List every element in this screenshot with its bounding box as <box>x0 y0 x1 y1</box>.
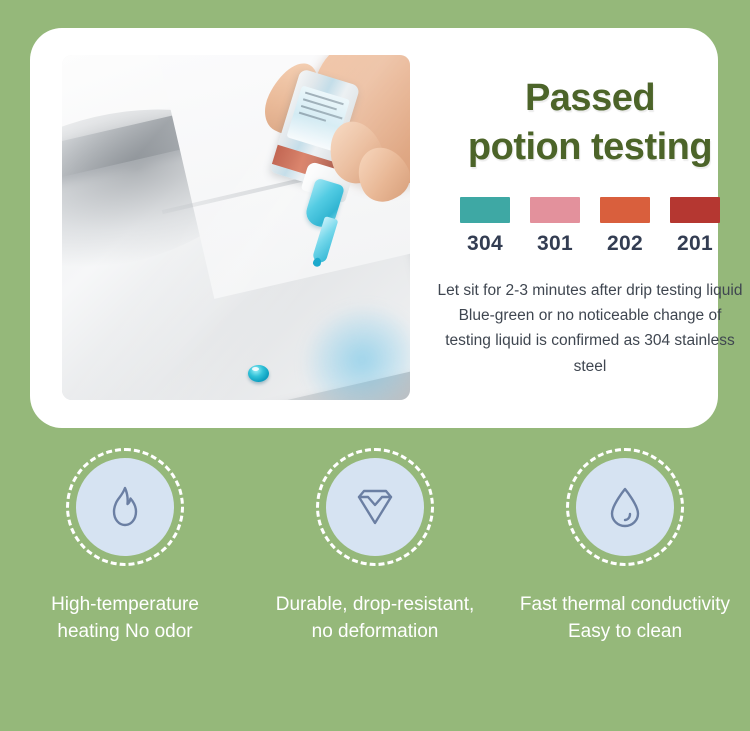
feature-disc-3 <box>576 458 674 556</box>
swatch-304: 304 <box>460 197 510 256</box>
diamond-icon <box>348 480 402 534</box>
product-photo <box>62 55 410 400</box>
feature-caption-2: Durable, drop-resistant, no deformation <box>268 592 483 646</box>
swatch-201: 201 <box>670 197 720 256</box>
swatch-chip-301 <box>530 197 580 223</box>
swatch-chip-201 <box>670 197 720 223</box>
swatch-chip-304 <box>460 197 510 223</box>
feature-badge-ring-3 <box>566 448 684 566</box>
feature-high-temperature: High-temperature heating No odor <box>0 448 250 646</box>
testing-instructions: Let sit for 2-3 minutes after drip testi… <box>434 278 746 378</box>
feature-caption-3: Fast thermal conductivity Easy to clean <box>518 592 733 646</box>
swatch-301: 301 <box>530 197 580 256</box>
water-drop-icon <box>599 481 651 533</box>
feature-caption-1: High-temperature heating No odor <box>18 592 233 646</box>
steel-grade-swatch-row: 304 301 202 201 <box>434 197 746 256</box>
swatch-chip-202 <box>600 197 650 223</box>
hero-card: Passed potion testing 304 301 202 201 Le… <box>30 28 718 428</box>
test-liquid-droplet <box>248 365 269 382</box>
swatch-label-202: 202 <box>600 232 650 256</box>
swatch-label-304: 304 <box>460 232 510 256</box>
feature-badge-ring-2 <box>316 448 434 566</box>
feature-disc-1 <box>76 458 174 556</box>
feature-thermal-conductivity: Fast thermal conductivity Easy to clean <box>500 448 750 646</box>
flame-icon <box>99 481 151 533</box>
page-title-line-2: potion testing <box>434 123 746 172</box>
feature-strip: High-temperature heating No odor Durable… <box>0 448 750 646</box>
page-title: Passed potion testing <box>434 74 746 171</box>
swatch-label-201: 201 <box>670 232 720 256</box>
swatch-202: 202 <box>600 197 650 256</box>
feature-badge-ring-1 <box>66 448 184 566</box>
swatch-label-301: 301 <box>530 232 580 256</box>
hero-text-column: Passed potion testing 304 301 202 201 Le… <box>434 74 746 379</box>
feature-durable: Durable, drop-resistant, no deformation <box>250 448 500 646</box>
feature-disc-2 <box>326 458 424 556</box>
page-title-line-1: Passed <box>434 74 746 123</box>
